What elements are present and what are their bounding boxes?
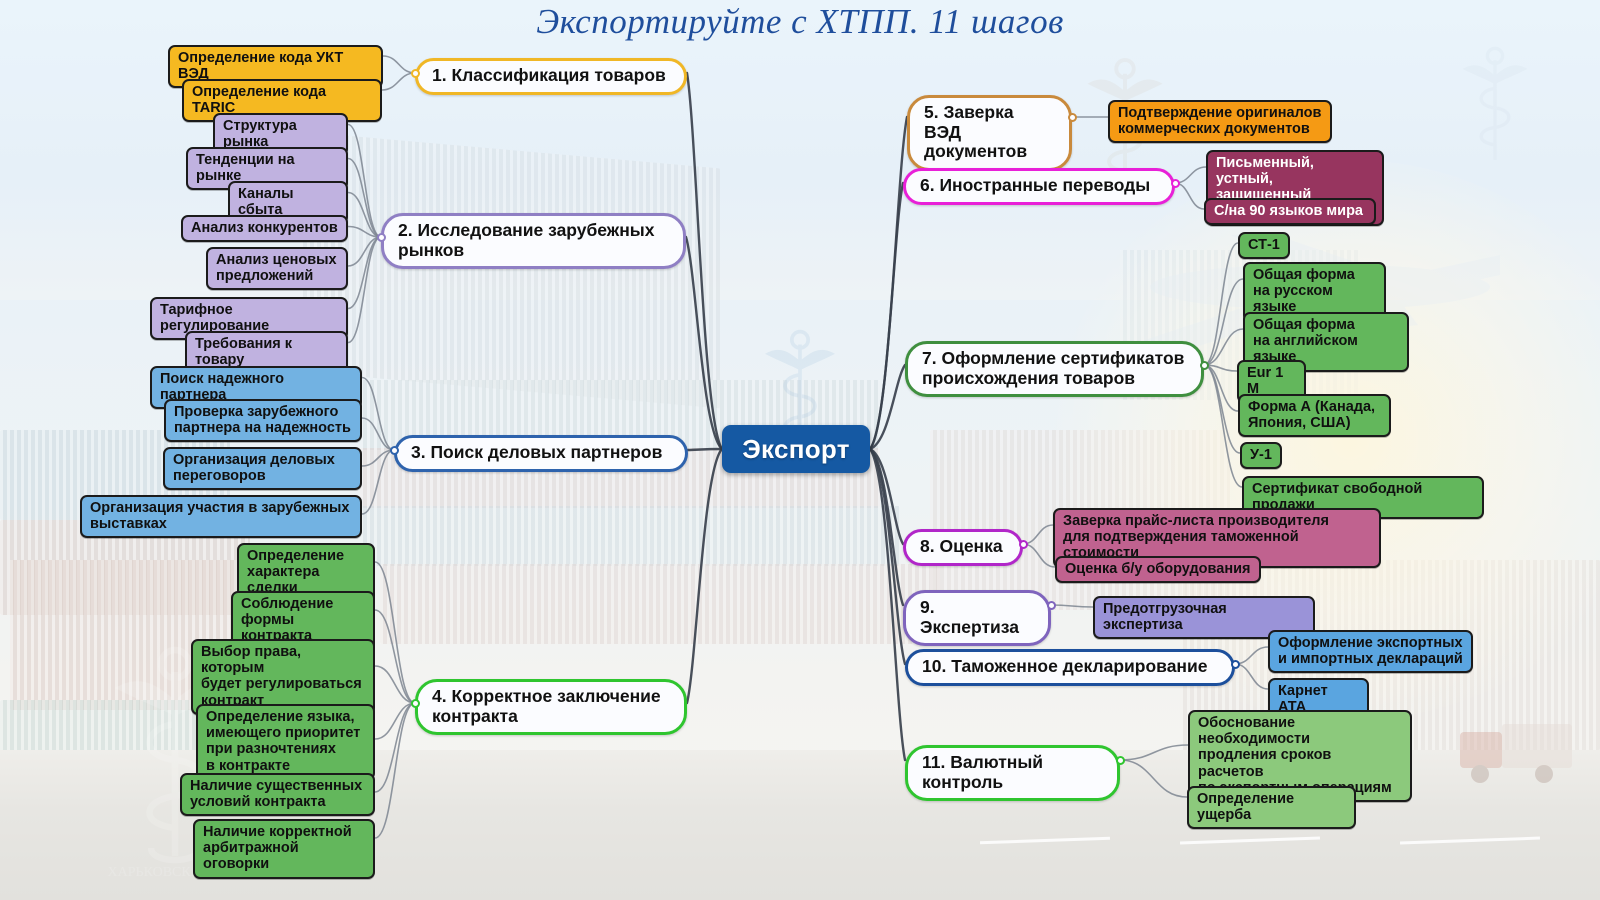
leaf-node-label: Тарифное регулирование: [160, 302, 338, 334]
branch-node-b7[interactable]: 7. Оформление сертификатов происхождения…: [905, 341, 1204, 397]
branch-node-label: 1. Классификация товаров: [432, 66, 666, 86]
leaf-node-label: Анализ ценовых предложений: [216, 252, 337, 284]
leaf-node-label: Заверка прайс-листа производителя для по…: [1063, 513, 1371, 562]
branch-node-b4[interactable]: 4. Корректное заключение контракта: [415, 679, 687, 735]
leaf-node[interactable]: Оформление экспортных и импортных деклар…: [1268, 630, 1473, 673]
branch-node-label: 8. Оценка: [920, 537, 1003, 557]
leaf-node-label: Оформление экспортных и импортных деклар…: [1278, 635, 1463, 667]
center-node-export[interactable]: Экспорт: [722, 425, 870, 473]
leaf-node-label: Проверка зарубежного партнера на надежно…: [174, 404, 351, 436]
branch-node-b8[interactable]: 8. Оценка: [903, 529, 1023, 566]
leaf-node-label: Наличие корректной арбитражной оговорки: [203, 824, 365, 873]
leaf-node-label: Организация участия в зарубежных выставк…: [90, 500, 350, 532]
leaf-node[interactable]: СТ-1: [1238, 232, 1290, 259]
leaf-node-label: Соблюдение формы контракта: [241, 596, 365, 645]
leaf-node[interactable]: Анализ конкурентов: [181, 215, 348, 242]
leaf-node-label: Тенденции на рынке: [196, 152, 338, 184]
leaf-node[interactable]: Форма А (Канада, Япония, США): [1238, 394, 1391, 437]
branch-node-label: 3. Поиск деловых партнеров: [411, 443, 662, 463]
center-node-label: Экспорт: [742, 434, 850, 465]
branch-node-b10[interactable]: 10. Таможенное декларирование: [905, 649, 1235, 686]
page-title: Экспортируйте с ХТПП. 11 шагов: [0, 2, 1600, 42]
leaf-node[interactable]: Организация участия в зарубежных выставк…: [80, 495, 362, 538]
leaf-node-label: Предотгрузочная экспертиза: [1103, 601, 1305, 633]
branch-node-b6[interactable]: 6. Иностранные переводы: [903, 168, 1175, 205]
leaf-node-label: Определение характера сделки: [247, 548, 365, 597]
branch-node-label: 7. Оформление сертификатов происхождения…: [922, 349, 1184, 388]
leaf-node[interactable]: Определение ущерба: [1187, 786, 1356, 829]
branch-collapse-bullet-b4[interactable]: [411, 699, 420, 708]
leaf-node[interactable]: Наличие существенных условий контракта: [180, 773, 375, 816]
branch-node-label: 11. Валютный контроль: [922, 753, 1103, 792]
leaf-node-label: Форма А (Канада, Япония, США): [1248, 399, 1375, 431]
leaf-node-label: Общая форма на русском языке: [1253, 267, 1376, 316]
branch-collapse-bullet-b6[interactable]: [1171, 179, 1180, 188]
branch-collapse-bullet-b10[interactable]: [1231, 660, 1240, 669]
branch-collapse-bullet-b9[interactable]: [1047, 601, 1056, 610]
leaf-node-label: Определение кода УКТ ВЭД: [178, 50, 373, 82]
leaf-node-label: Организация деловых переговоров: [173, 452, 335, 484]
branch-node-label: 10. Таможенное декларирование: [922, 657, 1208, 677]
leaf-node-label: У-1: [1250, 447, 1272, 463]
leaf-node[interactable]: С/на 90 языков мира: [1204, 198, 1376, 225]
leaf-node[interactable]: Организация деловых переговоров: [163, 447, 362, 490]
leaf-node-label: Определение ущерба: [1197, 791, 1346, 823]
leaf-node-label: Обоснование необходимости продления срок…: [1198, 715, 1402, 796]
branch-node-label: 9. Экспертиза: [920, 598, 1034, 637]
leaf-node[interactable]: Анализ ценовых предложений: [206, 247, 348, 290]
leaf-node[interactable]: Наличие корректной арбитражной оговорки: [193, 819, 375, 879]
leaf-node[interactable]: Оценка б/у оборудования: [1055, 556, 1261, 583]
mindmap-canvas: ХАРЬКОВСКАЯ ТПП Экспортируйте с ХТПП. 11…: [0, 0, 1600, 900]
leaf-node-label: Подтверждение оригиналов коммерческих до…: [1118, 105, 1321, 137]
leaf-node-label: СТ-1: [1248, 237, 1280, 253]
branch-collapse-bullet-b2[interactable]: [377, 233, 386, 242]
branch-collapse-bullet-b11[interactable]: [1116, 756, 1125, 765]
leaf-node-label: Определение языка, имеющего приоритет пр…: [206, 709, 360, 774]
leaf-node-label: Структура рынка: [223, 118, 338, 150]
branch-node-b9[interactable]: 9. Экспертиза: [903, 590, 1051, 646]
branch-node-b3[interactable]: 3. Поиск деловых партнеров: [394, 435, 688, 472]
leaf-node-label: Eur 1 M: [1247, 365, 1296, 397]
branch-collapse-bullet-b7[interactable]: [1200, 361, 1209, 370]
leaf-node-label: С/на 90 языков мира: [1214, 203, 1363, 219]
branch-node-b2[interactable]: 2. Исследование зарубежных рынков: [381, 213, 686, 269]
leaf-node-label: Общая форма на английском языке: [1253, 317, 1399, 366]
branch-collapse-bullet-b8[interactable]: [1019, 540, 1028, 549]
leaf-node[interactable]: Определение языка, имеющего приоритет пр…: [196, 704, 375, 780]
leaf-node-label: Наличие существенных условий контракта: [190, 778, 362, 810]
branch-node-b1[interactable]: 1. Классификация товаров: [415, 58, 687, 95]
leaf-node-label: Выбор права, которым будет регулироватьс…: [201, 644, 365, 709]
branch-node-b5[interactable]: 5. Заверка ВЭД документов: [907, 95, 1072, 171]
branch-node-label: 6. Иностранные переводы: [920, 176, 1150, 196]
leaf-node[interactable]: Проверка зарубежного партнера на надежно…: [164, 399, 362, 442]
leaf-node-label: Анализ конкурентов: [191, 220, 338, 236]
leaf-node-label: Требования к товару: [195, 336, 338, 368]
branch-node-label: 4. Корректное заключение контракта: [432, 687, 661, 726]
leaf-node-label: Оценка б/у оборудования: [1065, 561, 1250, 577]
branch-collapse-bullet-b1[interactable]: [411, 69, 420, 78]
branch-node-b11[interactable]: 11. Валютный контроль: [905, 745, 1120, 801]
branch-node-label: 5. Заверка ВЭД документов: [924, 103, 1055, 162]
branch-collapse-bullet-b5[interactable]: [1068, 113, 1077, 122]
leaf-node-label: Определение кода TARIC: [192, 84, 372, 116]
leaf-node[interactable]: У-1: [1240, 442, 1282, 469]
branch-collapse-bullet-b3[interactable]: [390, 446, 399, 455]
leaf-node[interactable]: Подтверждение оригиналов коммерческих до…: [1108, 100, 1332, 143]
leaf-node-label: Каналы сбыта: [238, 186, 338, 218]
branch-node-label: 2. Исследование зарубежных рынков: [398, 221, 654, 260]
